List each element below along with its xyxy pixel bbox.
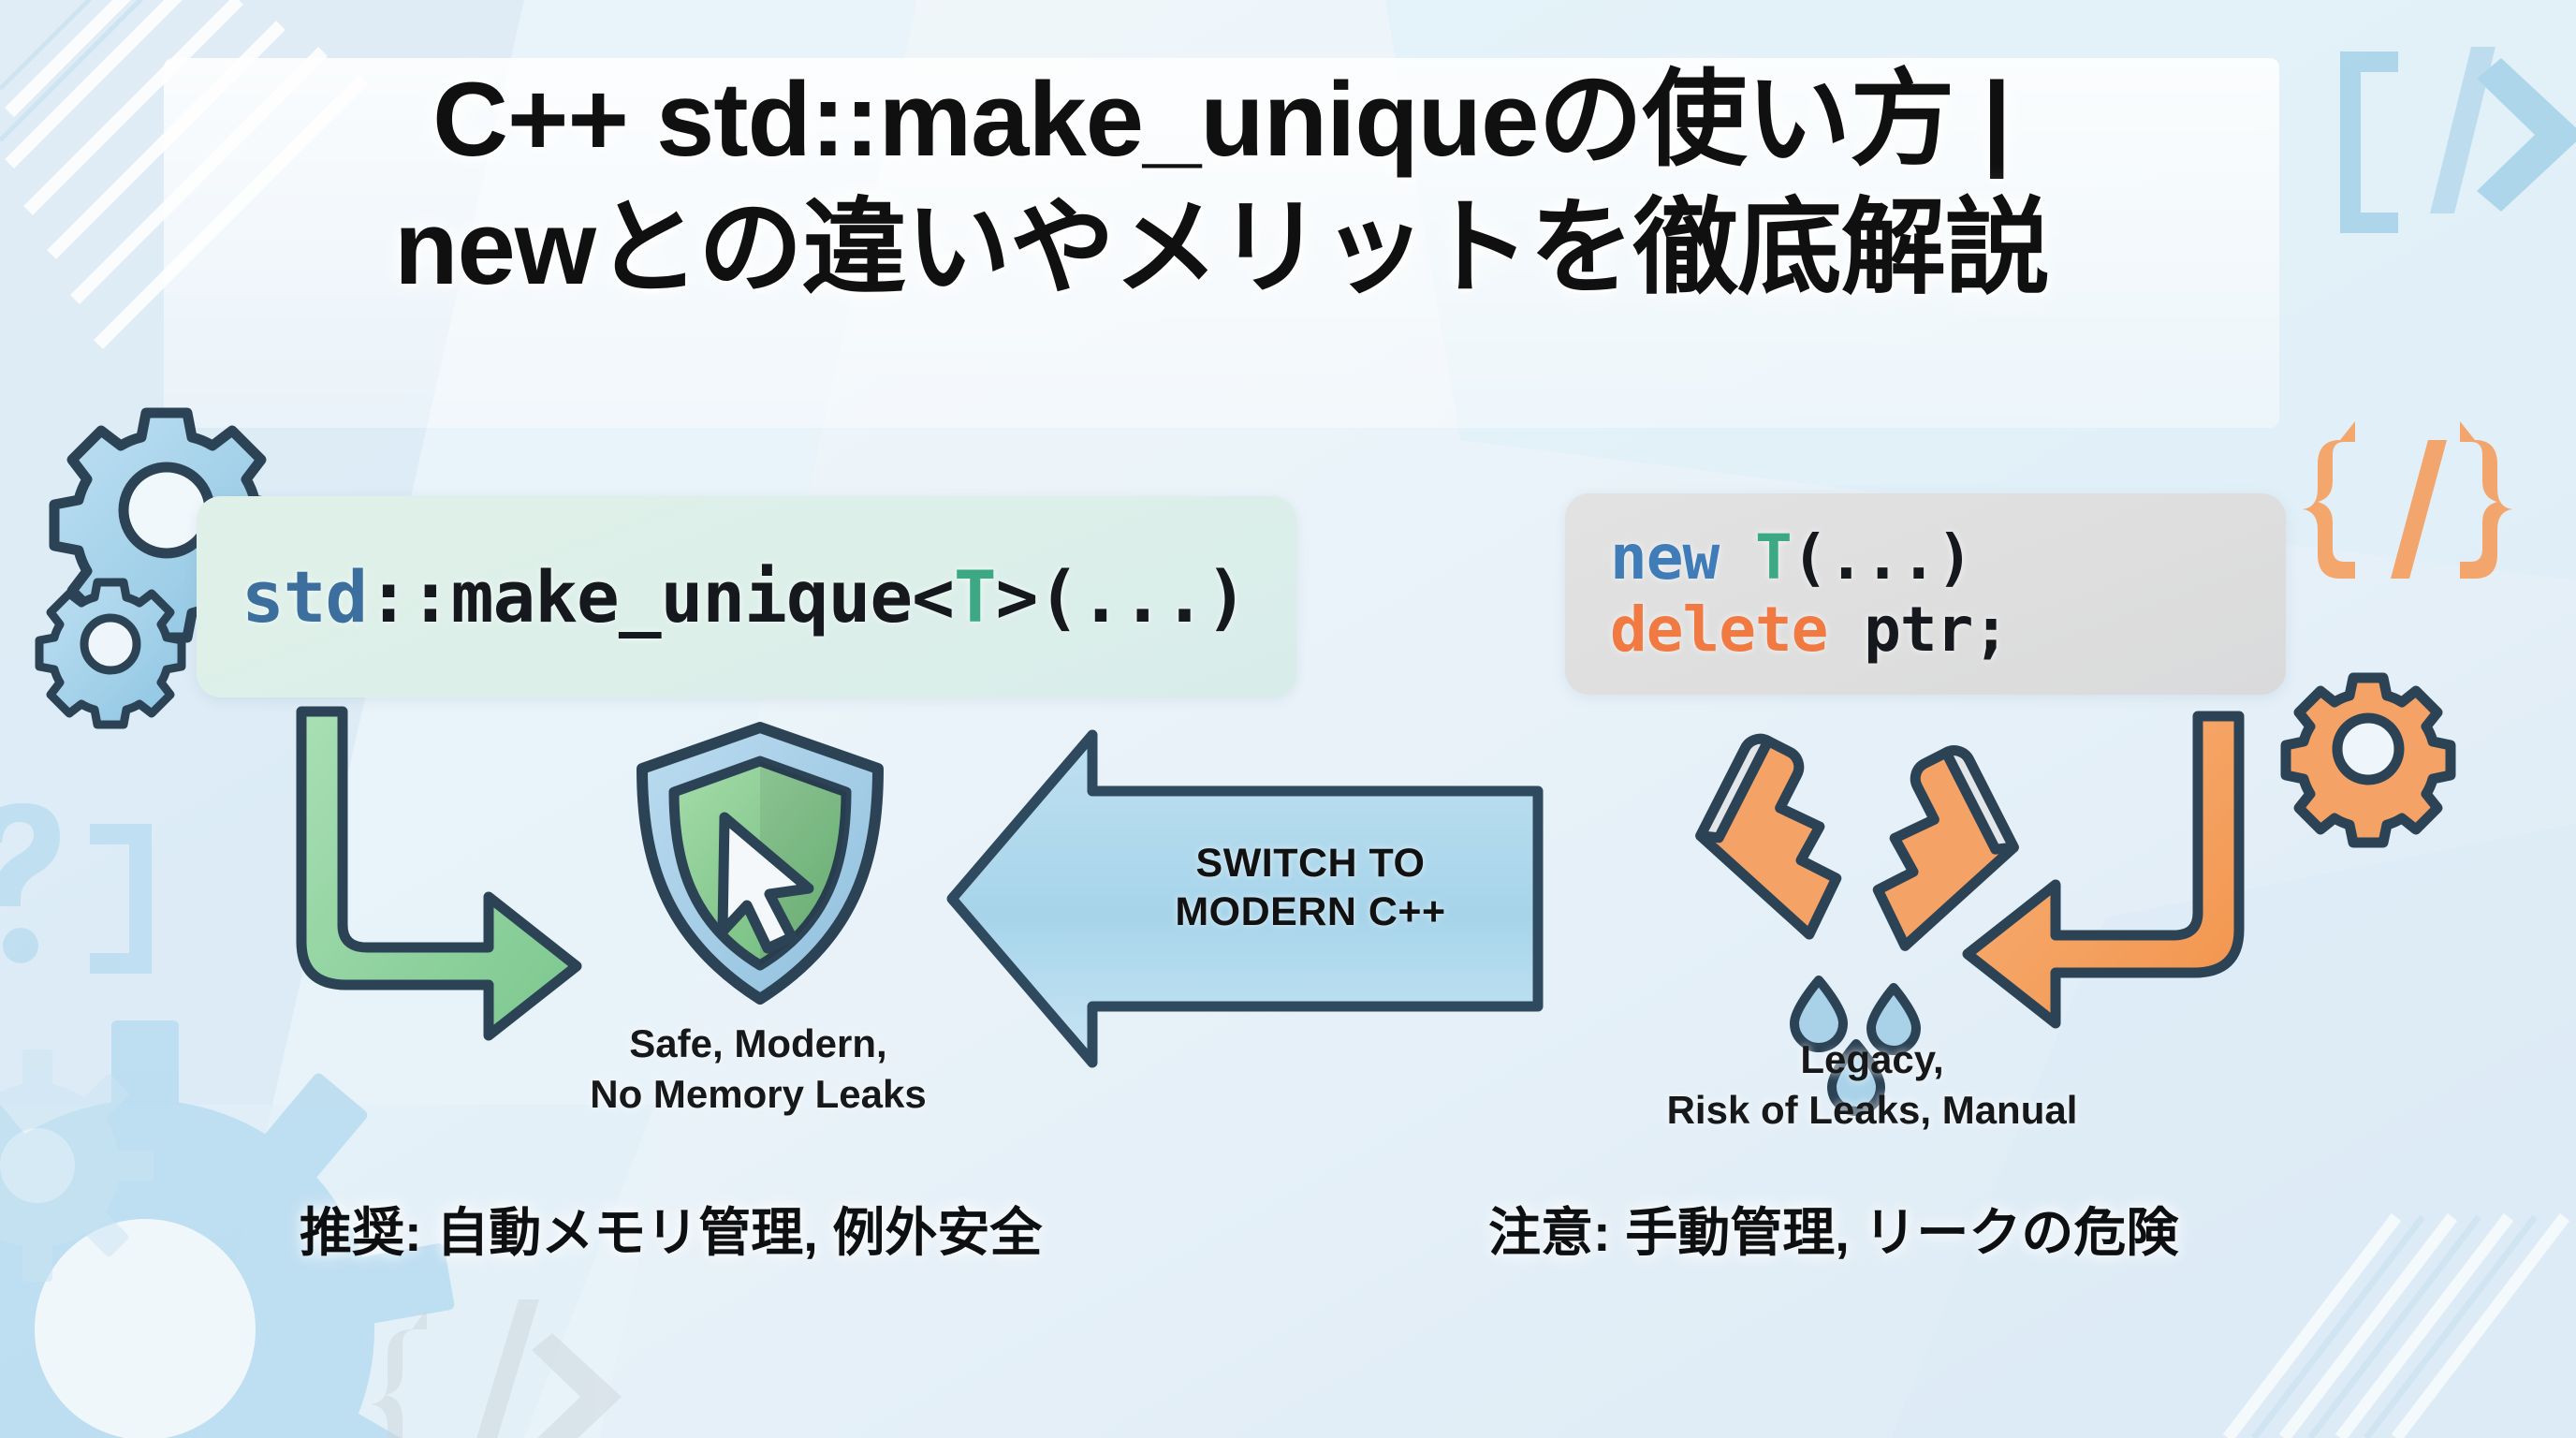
code-snippet-make-unique: std::make_unique<T>(...) (241, 562, 1296, 633)
banner-line-2: MODERN C++ (1109, 888, 1512, 936)
code-token-delete: delete (1610, 594, 1827, 666)
code-token-namespace: std (241, 555, 367, 638)
gear-icon-orange (2286, 678, 2451, 843)
banner-line-1: SWITCH TO (1109, 839, 1512, 888)
switch-to-modern-banner-label: SWITCH TO MODERN C++ (1109, 839, 1512, 937)
code-snippet-delete: delete ptr; (1610, 594, 2286, 667)
code-token-args: >(...) (996, 555, 1248, 638)
caption-legacy-english: Legacy, Risk of Leaks, Manual (1516, 1034, 2228, 1136)
caption-modern-english: Safe, Modern, No Memory Leaks (449, 1019, 1067, 1120)
code-snippet-new: new T(...) (1610, 522, 2286, 594)
code-card-legacy: new T(...) delete ptr; (1565, 493, 2286, 695)
code-token-type-t: T (1755, 521, 1792, 594)
code-card-modern: std::make_unique<T>(...) (197, 496, 1296, 697)
code-token-new: new (1610, 521, 1719, 594)
code-token-args-t: (...) (1792, 521, 1973, 594)
code-token-type: T (954, 555, 996, 638)
gear-icon-small-blue (39, 582, 182, 725)
page-title-line-1: C++ std::make_uniqueの使い方 | (178, 56, 2265, 184)
caption-modern-line-2: No Memory Leaks (449, 1069, 1067, 1120)
code-token-call: ::make_unique< (367, 555, 954, 638)
page-title: C++ std::make_uniqueの使い方 | newとの違いやメリットを… (178, 56, 2265, 312)
code-token-ptr: ptr; (1827, 594, 2009, 666)
page-title-line-2: newとの違いやメリットを徹底解説 (178, 184, 2265, 313)
caption-modern-line-1: Safe, Modern, (449, 1019, 1067, 1069)
caption-modern-japanese: 推奨: 自動メモリ管理, 例外安全 (300, 1191, 1042, 1267)
code-token-space (1719, 521, 1755, 594)
caption-legacy-line-2: Risk of Leaks, Manual (1516, 1085, 2228, 1136)
caption-legacy-line-1: Legacy, (1516, 1034, 2228, 1085)
caption-legacy-japanese: 注意: 手動管理, リークの危険 (1488, 1191, 2178, 1267)
